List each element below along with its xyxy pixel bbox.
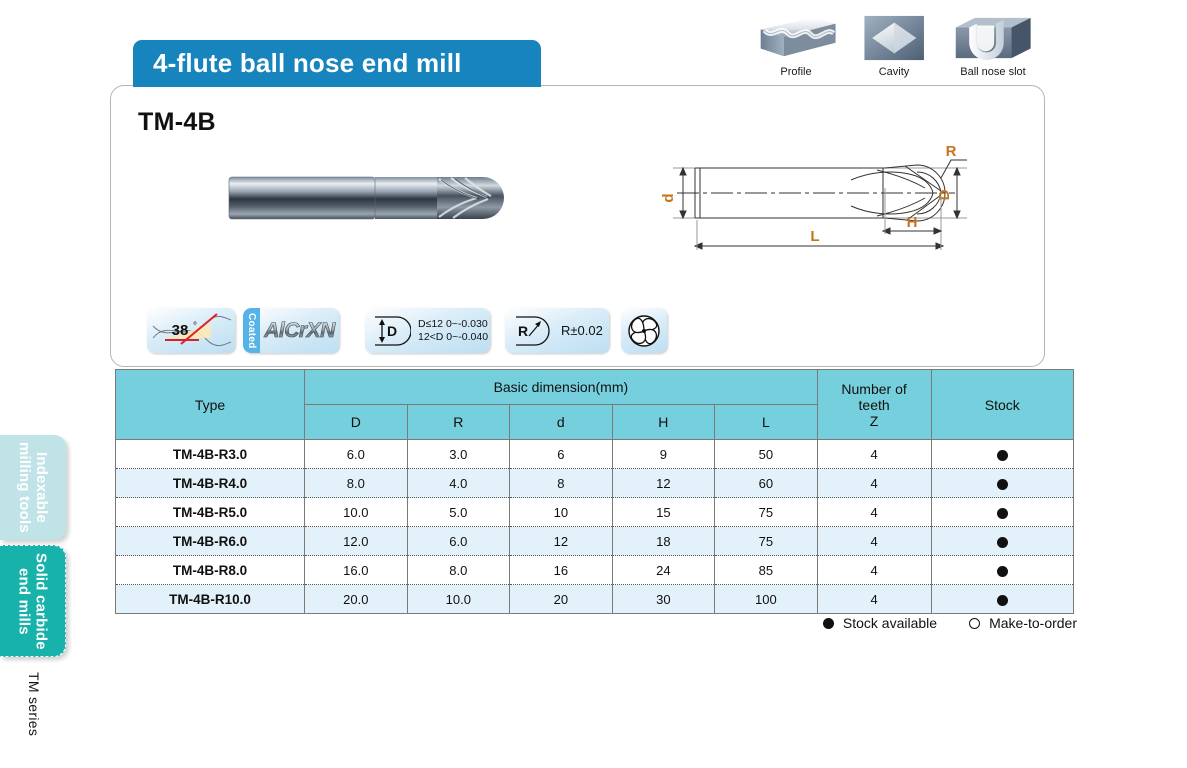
cell-Z: 4 [817,469,931,498]
diameter-tolerance-icon-label: D [387,323,397,339]
helix-angle-degree: ° [193,321,197,332]
cell-D: 16.0 [305,556,408,585]
cell-d: 12 [510,527,613,556]
specification-table: Type Basic dimension(mm) Number of teeth… [115,369,1074,614]
legend-filled-dot-icon [823,618,834,629]
cell-D: 20.0 [305,585,408,614]
legend-open-dot-icon [969,618,980,629]
sidebar-tab-solid-carbide-end-mills[interactable]: Solid carbideend mills [0,545,66,657]
cell-R: 3.0 [407,440,510,469]
legend-make-to-order-label: Make-to-order [989,615,1077,631]
cell-d: 10 [510,498,613,527]
page-title: 4-flute ball nose end mill [153,48,462,79]
cell-type: TM-4B-R5.0 [116,498,305,527]
cell-d: 6 [510,440,613,469]
cell-d: 8 [510,469,613,498]
stock-available-dot-icon [997,450,1008,461]
cell-D: 10.0 [305,498,408,527]
cell-L: 60 [715,469,818,498]
coating-name: AlCrXN [260,319,339,343]
coating-tag-label: Coated [246,313,257,349]
header-type: Type [116,370,305,440]
diameter-tolerance-line1: D≤12 0~-0.030 [418,318,488,331]
cell-stock [931,498,1073,527]
radius-tolerance-icon: R [513,314,551,348]
header-dim-L: L [715,405,818,440]
cell-stock [931,585,1073,614]
tool-photo [225,168,515,228]
application-ball-nose-slot: Ball nose slot [945,14,1041,78]
cell-stock [931,440,1073,469]
cell-stock [931,469,1073,498]
flute-end-view-icon [625,312,663,350]
cell-Z: 4 [817,585,931,614]
cell-Z: 4 [817,440,931,469]
cell-d: 16 [510,556,613,585]
coating-tag-strip: Coated [243,308,260,353]
cell-type: TM-4B-R6.0 [116,527,305,556]
page-title-banner: 4-flute ball nose end mill [133,40,541,87]
table-row: TM-4B-R10.020.010.020301004 [116,585,1074,614]
table-row: TM-4B-R6.012.06.01218754 [116,527,1074,556]
header-teeth-line2: teeth [818,397,931,413]
feature-badge-coating: Coated AlCrXN [243,308,339,353]
header-dim-H: H [612,405,715,440]
profile-icon [753,14,839,62]
cell-R: 8.0 [407,556,510,585]
feature-badge-helix-angle: 38 ° [147,308,235,353]
cavity-icon [851,14,937,62]
legend-stock-available-label: Stock available [843,615,937,631]
application-cavity-caption: Cavity [846,66,942,78]
cell-H: 30 [612,585,715,614]
sidebar-tab-indexable-milling-tools[interactable]: Indexablemilling tools [0,435,66,540]
stock-available-dot-icon [997,595,1008,606]
cell-Z: 4 [817,556,931,585]
diameter-tolerance-icon: D [371,314,411,348]
cell-type: TM-4B-R10.0 [116,585,305,614]
stock-available-dot-icon [997,479,1008,490]
helix-angle-value: 38 [172,322,189,339]
helix-angle-icon: 38 ° [147,308,235,353]
application-profile-caption: Profile [748,66,844,78]
cell-stock [931,556,1073,585]
header-dim-R: R [407,405,510,440]
table-header-row-1: Type Basic dimension(mm) Number of teeth… [116,370,1074,405]
stock-available-dot-icon [997,508,1008,519]
header-dim-d: d [510,405,613,440]
table-row: TM-4B-R4.08.04.0812604 [116,469,1074,498]
drawing-label-R: R [946,143,957,160]
drawing-label-L: L [810,228,819,245]
cell-type: TM-4B-R8.0 [116,556,305,585]
technical-drawing: d D L H R [655,138,985,263]
series-label: TM series [26,672,42,736]
cell-D: 8.0 [305,469,408,498]
sidebar-tab-solid-carbide-label: Solid carbideend mills [16,553,50,650]
radius-tolerance-value: R±0.02 [561,323,603,338]
cell-type: TM-4B-R3.0 [116,440,305,469]
diameter-tolerance-text: D≤12 0~-0.030 12<D 0~-0.040 [418,318,488,344]
header-basic-dimension: Basic dimension(mm) [305,370,818,405]
cell-R: 6.0 [407,527,510,556]
header-stock: Stock [931,370,1073,440]
feature-badge-end-view [621,308,667,353]
cell-R: 4.0 [407,469,510,498]
stock-legend: Stock available Make-to-order [823,615,1077,631]
cell-d: 20 [510,585,613,614]
drawing-label-d: d [660,193,677,202]
sidebar-tab-indexable-label: Indexablemilling tools [16,442,50,533]
ball-nose-slot-icon [950,14,1036,62]
cell-H: 24 [612,556,715,585]
cell-stock [931,527,1073,556]
header-teeth-line3: Z [818,413,931,429]
table-row: TM-4B-R8.016.08.01624854 [116,556,1074,585]
stock-available-dot-icon [997,566,1008,577]
header-number-of-teeth: Number of teeth Z [817,370,931,440]
table-row: TM-4B-R5.010.05.01015754 [116,498,1074,527]
model-code: TM-4B [138,108,216,137]
cell-D: 12.0 [305,527,408,556]
feature-badge-radius-tolerance: R R±0.02 [505,308,609,353]
cell-R: 10.0 [407,585,510,614]
cell-Z: 4 [817,527,931,556]
cell-L: 75 [715,498,818,527]
radius-tolerance-icon-label: R [518,323,528,339]
drawing-label-D-big: D [936,189,953,200]
cell-L: 75 [715,527,818,556]
diameter-tolerance-line2: 12<D 0~-0.040 [418,331,488,344]
cell-H: 12 [612,469,715,498]
cell-type: TM-4B-R4.0 [116,469,305,498]
cell-Z: 4 [817,498,931,527]
header-dim-D: D [305,405,408,440]
cell-L: 50 [715,440,818,469]
stock-available-dot-icon [997,537,1008,548]
application-profile: Profile [748,14,844,78]
cell-D: 6.0 [305,440,408,469]
cell-H: 15 [612,498,715,527]
application-ball-nose-slot-caption: Ball nose slot [945,66,1041,78]
application-cavity: Cavity [846,14,942,78]
table-row: TM-4B-R3.06.03.069504 [116,440,1074,469]
cell-H: 9 [612,440,715,469]
header-teeth-line1: Number of [818,381,931,397]
drawing-label-H: H [907,214,918,231]
cell-R: 5.0 [407,498,510,527]
cell-H: 18 [612,527,715,556]
cell-L: 85 [715,556,818,585]
cell-L: 100 [715,585,818,614]
feature-badge-diameter-tolerance: D D≤12 0~-0.030 12<D 0~-0.040 [365,308,490,353]
